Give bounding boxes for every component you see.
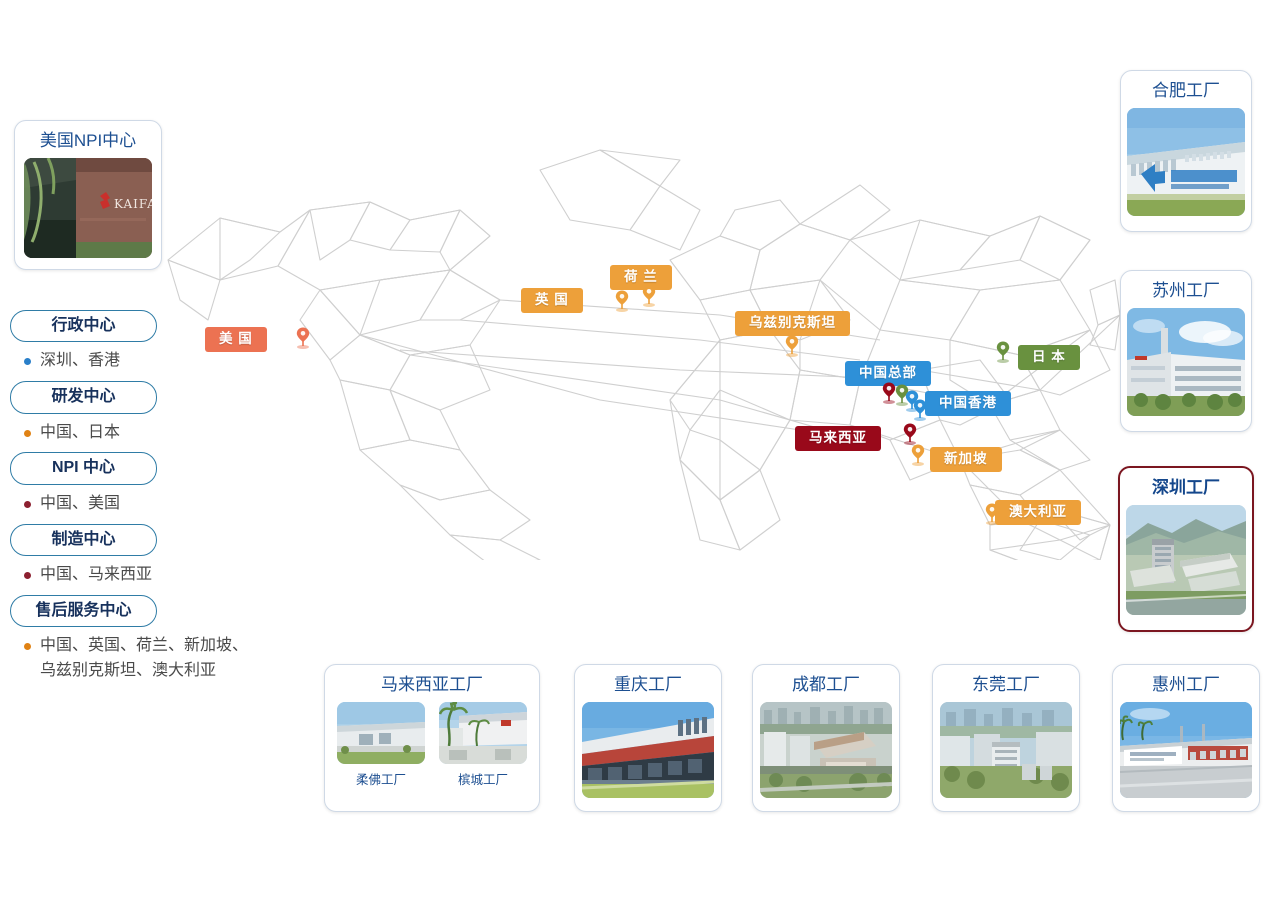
legend-bullet-icon [24, 643, 31, 650]
legend-group-after-sales: 售后服务中心中国、英国、荷兰、新加坡、 乌兹别克斯坦、澳大利亚 [10, 595, 320, 684]
svg-text:KAIFA: KAIFA [114, 197, 152, 211]
pin-uk-icon[interactable] [614, 290, 630, 312]
card-shenzhen-title: 深圳工厂 [1152, 477, 1220, 499]
legend-bullet-icon [24, 501, 31, 508]
card-malaysia-title: 马来西亚工厂 [381, 674, 483, 696]
card-dongguan[interactable]: 东莞工厂 [932, 664, 1080, 812]
legend-items-rnd: 中国、日本 [24, 421, 320, 446]
card-chengdu[interactable]: 成都工厂 [752, 664, 900, 812]
card-suzhou[interactable]: 苏州工厂 [1120, 270, 1252, 432]
card-dongguan-photo [940, 702, 1072, 798]
map-label-japan[interactable]: 日 本 [1018, 345, 1080, 370]
map-label-australia[interactable]: 澳大利亚 [995, 500, 1081, 525]
legend-locations-npi: 中国、美国 [40, 492, 120, 517]
card-hefei-photo [1127, 108, 1245, 216]
map-label-singapore[interactable]: 新加坡 [930, 447, 1002, 472]
global-footprint-diagram: 美 国英 国荷 兰乌兹别克斯坦中国总部中国香港日 本马来西亚新加坡澳大利亚 行政… [0, 0, 1281, 897]
legend-items-manufacturing: 中国、马来西亚 [24, 563, 320, 588]
legend-bullet-icon [24, 358, 31, 365]
legend-pill-administrative[interactable]: 行政中心 [10, 310, 157, 342]
legend-bullet-icon [24, 430, 31, 437]
card-chongqing-title: 重庆工厂 [614, 674, 682, 696]
center-type-legend: 行政中心深圳、香港研发中心中国、日本NPI 中心中国、美国制造中心中国、马来西亚… [10, 310, 320, 691]
card-hefei[interactable]: 合肥工厂 [1120, 70, 1252, 232]
card-malaysia-photos: 柔佛工厂 [337, 702, 527, 788]
card-dongguan-title: 东莞工厂 [972, 674, 1040, 696]
card-chongqing-photo [582, 702, 714, 798]
pin-netherlands-icon[interactable] [641, 285, 657, 307]
legend-locations-administrative: 深圳、香港 [40, 349, 120, 374]
legend-group-rnd: 研发中心中国、日本 [10, 381, 320, 445]
card-huizhou[interactable]: 惠州工厂 [1112, 664, 1260, 812]
sub-johor-photo [337, 702, 425, 764]
map-label-uzbekistan[interactable]: 乌兹别克斯坦 [735, 311, 850, 336]
map-label-china-hk[interactable]: 中国香港 [925, 391, 1011, 416]
sub-penang-photo [439, 702, 527, 764]
pin-singapore-icon[interactable] [910, 444, 926, 466]
legend-locations-after-sales: 中国、英国、荷兰、新加坡、 乌兹别克斯坦、澳大利亚 [40, 634, 248, 684]
card-huizhou-title: 惠州工厂 [1152, 674, 1220, 696]
sub-johor-caption: 柔佛工厂 [356, 769, 406, 788]
card-us-npi-photo: KAIFA [24, 158, 152, 258]
legend-bullet-icon [24, 572, 31, 579]
card-huizhou-photo [1120, 702, 1252, 798]
pin-australia-icon[interactable] [984, 503, 1000, 525]
card-malaysia[interactable]: 马来西亚工厂 柔佛工厂 [324, 664, 540, 812]
card-shenzhen-photo [1126, 505, 1246, 615]
card-chengdu-title: 成都工厂 [792, 674, 860, 696]
legend-pill-manufacturing[interactable]: 制造中心 [10, 524, 157, 556]
card-chengdu-photo [760, 702, 892, 798]
pin-uzbekistan-icon[interactable] [784, 335, 800, 357]
card-chongqing[interactable]: 重庆工厂 [574, 664, 722, 812]
card-suzhou-photo [1127, 308, 1245, 416]
legend-items-after-sales: 中国、英国、荷兰、新加坡、 乌兹别克斯坦、澳大利亚 [24, 634, 320, 684]
legend-pill-rnd[interactable]: 研发中心 [10, 381, 157, 413]
legend-group-administrative: 行政中心深圳、香港 [10, 310, 320, 374]
legend-group-manufacturing: 制造中心中国、马来西亚 [10, 524, 320, 588]
card-us-npi[interactable]: 美国NPI中心 KAIFA [14, 120, 162, 270]
legend-items-administrative: 深圳、香港 [24, 349, 320, 374]
legend-pill-npi[interactable]: NPI 中心 [10, 452, 157, 484]
legend-locations-rnd: 中国、日本 [40, 421, 120, 446]
card-suzhou-title: 苏州工厂 [1152, 280, 1220, 302]
sub-penang-caption: 槟城工厂 [458, 769, 508, 788]
pin-japan-icon[interactable] [995, 341, 1011, 363]
legend-locations-manufacturing: 中国、马来西亚 [40, 563, 152, 588]
legend-group-npi: NPI 中心中国、美国 [10, 452, 320, 516]
card-hefei-title: 合肥工厂 [1152, 80, 1220, 102]
card-shenzhen[interactable]: 深圳工厂 [1118, 466, 1254, 632]
legend-pill-after-sales[interactable]: 售后服务中心 [10, 595, 157, 627]
legend-items-npi: 中国、美国 [24, 492, 320, 517]
card-us-npi-title: 美国NPI中心 [40, 130, 136, 152]
pin-malaysia-icon[interactable] [902, 423, 918, 445]
pin-china-hk-icon[interactable] [912, 399, 928, 421]
map-label-uk[interactable]: 英 国 [521, 288, 583, 313]
map-label-malaysia[interactable]: 马来西亚 [795, 426, 881, 451]
